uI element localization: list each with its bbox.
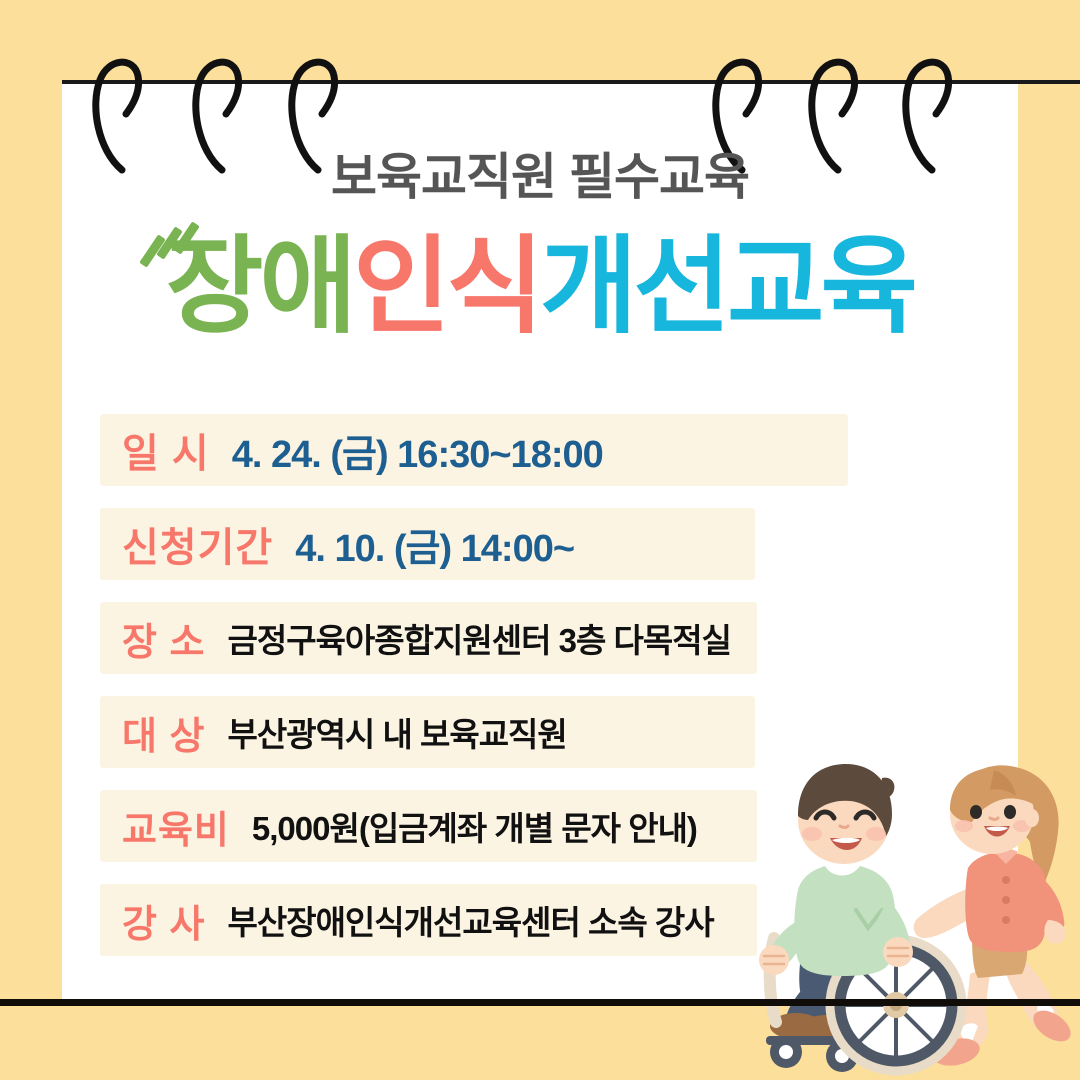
two-children-wheelchair-illustration [756,760,1080,1080]
info-row-location: 장 소 금정구육아종합지원센터 3층 다목적실 [100,602,757,674]
info-row-instructor: 강 사 부산장애인식개선교육센터 소속 강사 [100,884,757,956]
poster-subtitle: 보육교직원 필수교육 [0,152,1080,202]
info-row-label: 대 상 [100,705,205,760]
title-segment-1: 장애 [166,228,353,346]
info-row-value: 부산장애인식개선교육센터 소속 강사 [205,896,713,944]
info-row-datetime: 일 시 4. 24. (금) 16:30~18:00 [100,414,848,486]
info-row-label: 일 시 [100,421,210,479]
info-row-label: 교육비 [100,799,230,854]
title-segment-3: 개선교육 [540,228,914,346]
info-row-target: 대 상 부산광역시 내 보육교직원 [100,696,755,768]
page-bottom-rule [0,999,1080,1006]
poster-canvas: 보육교직원 필수교육 장애인식개선교육 일 시 4. 24. (금) 16:30… [0,0,1080,1080]
info-row-value: 4. 10. (금) 14:00~ [273,517,574,572]
info-row-value: 금정구육아종합지원센터 3층 다목적실 [205,614,730,662]
info-row-label: 강 사 [100,893,205,948]
info-row-label: 신청기간 [100,515,273,573]
info-row-value: 4. 24. (금) 16:30~18:00 [210,423,603,478]
info-row-value: 5,000원(입금계좌 개별 문자 안내) [230,802,697,850]
info-row-fee: 교육비 5,000원(입금계좌 개별 문자 안내) [100,790,757,862]
title-segment-2: 인식 [353,228,540,346]
info-row-value: 부산광역시 내 보육교직원 [205,708,566,756]
info-row-application-period: 신청기간 4. 10. (금) 14:00~ [100,508,755,580]
poster-title: 장애인식개선교육 [0,232,1080,343]
page-top-rule [62,80,1080,84]
info-row-label: 장 소 [100,611,205,666]
